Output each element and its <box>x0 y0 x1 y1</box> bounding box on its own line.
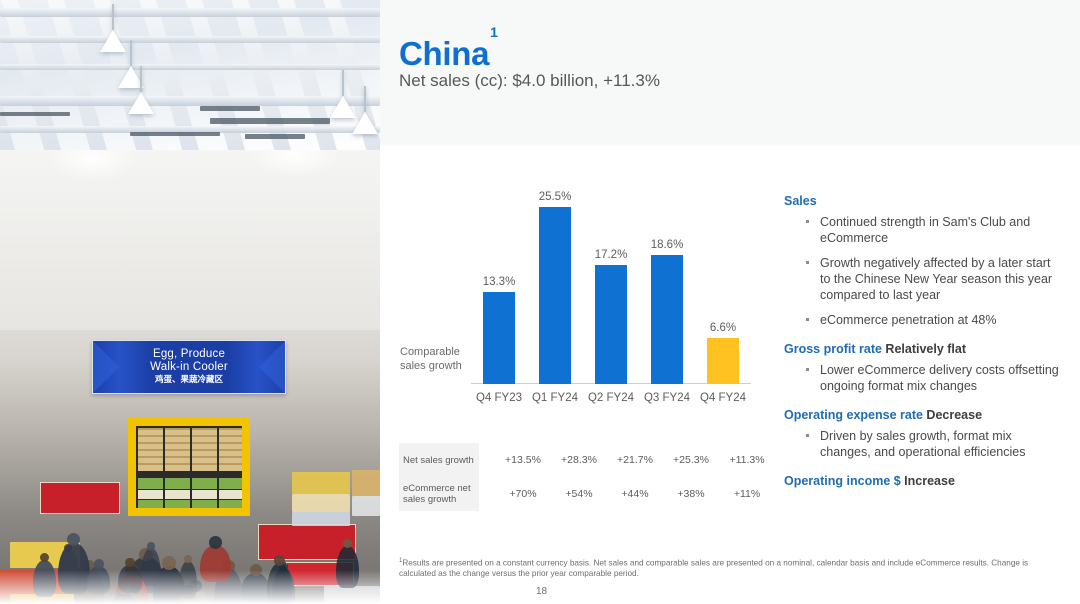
table-cell: +54% <box>551 477 607 511</box>
table-row-cells: +70%+54%+44%+38%+11% <box>479 477 751 511</box>
comparable-sales-chart: Comparable sales growth 13.3%Q4 FY2325.5… <box>399 190 759 440</box>
produce-row <box>165 500 190 508</box>
chart-x-tick: Q4 FY24 <box>695 392 751 404</box>
shopper-head <box>94 559 104 569</box>
table-cell: +25.3% <box>663 443 719 477</box>
table-row: Net sales growth+13.5%+28.3%+21.7%+25.3%… <box>399 443 751 477</box>
produce-row <box>192 500 217 508</box>
chart-plot-area: 13.3%Q4 FY2325.5%Q1 FY2417.2%Q2 FY2418.6… <box>471 190 751 412</box>
commentary-bullet: eCommerce penetration at 48% <box>784 312 1064 328</box>
commentary-bullet: Driven by sales growth, format mix chang… <box>784 428 1064 460</box>
store-floor-photo: Egg, Produce Walk-in Cooler 鸡蛋、果蔬冷藏区 <box>0 150 380 604</box>
commentary-bullet: Lower eCommerce delivery costs offsettin… <box>784 362 1064 394</box>
produce-row <box>219 478 242 489</box>
chart-x-tick: Q2 FY24 <box>583 392 639 404</box>
commentary-bullet-list: Driven by sales growth, format mix chang… <box>784 428 1064 460</box>
aisle-sign-line2: Walk-in Cooler <box>150 361 228 374</box>
slide: Egg, Produce Walk-in Cooler 鸡蛋、果蔬冷藏区 Chi… <box>0 0 1080 604</box>
table-cell: +44% <box>607 477 663 511</box>
pendant-light <box>128 92 154 114</box>
table-cell: +28.3% <box>551 443 607 477</box>
commentary-heading: Operating income $ Increase <box>784 473 1064 489</box>
produce-row <box>192 478 217 489</box>
commentary-heading: Sales <box>784 193 1064 209</box>
ceiling-fixture <box>200 106 260 111</box>
ceiling-duct <box>0 36 380 43</box>
commentary-heading: Operating expense rate Decrease <box>784 407 1064 423</box>
aisle-sign: Egg, Produce Walk-in Cooler 鸡蛋、果蔬冷藏区 <box>92 340 286 394</box>
commentary-heading-key: Operating expense rate <box>784 408 923 422</box>
table-cell: +11.3% <box>719 443 775 477</box>
page-number: 18 <box>399 586 684 597</box>
produce-crate <box>219 463 242 471</box>
produce-row <box>165 478 190 489</box>
table-cell: +11% <box>719 477 775 511</box>
footnote-text: Results are presented on a constant curr… <box>399 559 1028 578</box>
chart-bar <box>707 338 739 384</box>
page-title-text: China <box>399 35 489 72</box>
cooler-display <box>128 418 250 516</box>
shopper-head <box>274 555 285 566</box>
shopper-head <box>147 542 155 550</box>
chart-bar-value: 25.5% <box>527 191 583 203</box>
pendant-light <box>352 112 378 134</box>
table-cell: +70% <box>495 477 551 511</box>
footnote: 1Results are presented on a constant cur… <box>399 556 1039 579</box>
table-row-label: eCommerce net sales growth <box>399 477 479 511</box>
page-title: China1 <box>399 30 497 72</box>
commentary-heading-key: Sales <box>784 194 817 208</box>
produce-row <box>219 490 242 499</box>
merchandise-block <box>352 470 380 496</box>
commentary-bullet: Continued strength in Sam's Club and eCo… <box>784 214 1064 246</box>
ceiling-fixture <box>0 112 70 116</box>
aisle-sign-line1: Egg, Produce <box>153 348 225 361</box>
chart-bar <box>595 265 627 384</box>
chart-x-tick: Q4 FY23 <box>471 392 527 404</box>
merchandise-block <box>292 512 350 526</box>
shopper-head <box>184 555 192 563</box>
ceiling-fixture <box>130 132 220 136</box>
chart-x-tick: Q1 FY24 <box>527 392 583 404</box>
chart-bar-slot <box>695 190 751 384</box>
commentary-panel: SalesContinued strength in Sam's Club an… <box>784 193 1064 494</box>
shopper-head <box>125 558 135 568</box>
table-cell: +13.5% <box>495 443 551 477</box>
pendant-light <box>100 30 126 52</box>
produce-crate <box>138 463 163 471</box>
commentary-bullet: Growth negatively affected by a later st… <box>784 255 1064 303</box>
commentary-bullet-list: Lower eCommerce delivery costs offsettin… <box>784 362 1064 394</box>
merchandise-block <box>292 494 350 512</box>
ceiling-duct <box>0 64 380 70</box>
aisle-sign-chinese: 鸡蛋、果蔬冷藏区 <box>155 375 223 386</box>
shopper-head <box>209 536 222 549</box>
produce-row <box>219 500 242 508</box>
commentary-heading-value: Relatively flat <box>882 342 966 356</box>
chart-bar-slot <box>639 190 695 384</box>
promo-banner <box>40 482 120 514</box>
title-footnote-marker: 1 <box>490 24 498 40</box>
ceiling-duct <box>0 96 380 106</box>
chart-series-label: Comparable sales growth <box>400 345 478 373</box>
store-wall <box>0 150 380 330</box>
warehouse-ceiling-photo <box>0 0 380 150</box>
chart-bar-value: 18.6% <box>639 239 695 251</box>
chart-bar-value: 13.3% <box>471 276 527 288</box>
chart-bar <box>651 255 683 384</box>
chart-bar-slot <box>527 190 583 384</box>
produce-row <box>138 478 163 489</box>
produce-row <box>138 500 163 508</box>
produce-crate <box>165 463 190 471</box>
ceiling-duct <box>0 8 380 17</box>
page-subtitle: Net sales (cc): $4.0 billion, +11.3% <box>399 70 660 92</box>
table-cell: +21.7% <box>607 443 663 477</box>
merchandise-block <box>352 496 380 516</box>
metrics-table: Net sales growth+13.5%+28.3%+21.7%+25.3%… <box>399 443 751 511</box>
chart-bar-value: 17.2% <box>583 249 639 261</box>
photo-column: Egg, Produce Walk-in Cooler 鸡蛋、果蔬冷藏区 <box>0 0 380 604</box>
ceiling-fixture <box>210 118 330 124</box>
commentary-heading: Gross profit rate Relatively flat <box>784 341 1064 357</box>
merchandise-block <box>292 472 350 494</box>
ceiling-fixture <box>245 134 305 139</box>
table-cell: +38% <box>663 477 719 511</box>
table-row-label: Net sales growth <box>399 443 479 477</box>
produce-row <box>165 490 190 499</box>
commentary-heading-key: Gross profit rate <box>784 342 882 356</box>
chart-bar-value: 6.6% <box>695 322 751 334</box>
chart-bar <box>539 207 571 384</box>
produce-row <box>192 490 217 499</box>
chart-x-tick: Q3 FY24 <box>639 392 695 404</box>
photo-fade <box>0 570 380 604</box>
shopper-head <box>162 556 176 570</box>
commentary-bullet-list: Continued strength in Sam's Club and eCo… <box>784 214 1064 328</box>
commentary-heading-value: Increase <box>901 474 955 488</box>
chart-bar-slot <box>583 190 639 384</box>
produce-crate <box>192 463 217 471</box>
commentary-heading-value: Decrease <box>923 408 982 422</box>
table-row-cells: +13.5%+28.3%+21.7%+25.3%+11.3% <box>479 443 751 477</box>
commentary-heading-key: Operating income $ <box>784 474 901 488</box>
produce-row <box>138 490 163 499</box>
chart-bar <box>483 292 515 384</box>
table-row: eCommerce net sales growth+70%+54%+44%+3… <box>399 477 751 511</box>
